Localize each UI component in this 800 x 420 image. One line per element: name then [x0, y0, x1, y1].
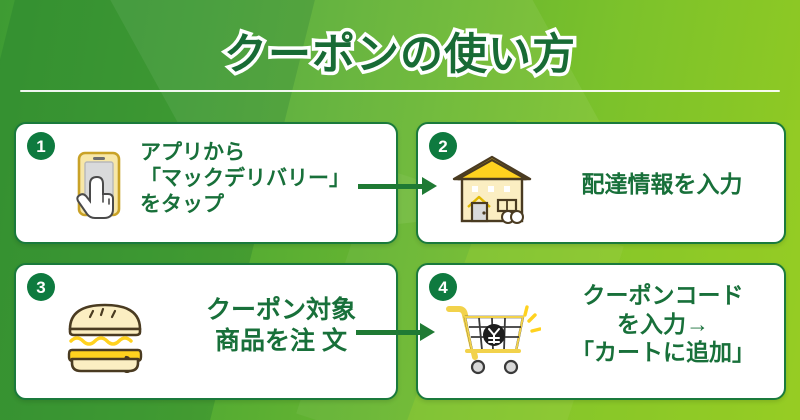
- arrow-head: [422, 177, 437, 195]
- arrow-shaft: [356, 330, 424, 335]
- hamburger-icon: [60, 291, 150, 379]
- step-card-3[interactable]: 3 クーポン対象 商品を注 文: [14, 263, 398, 400]
- arrow-step3-to-step4: [356, 321, 442, 343]
- step-card-1[interactable]: 1 アプリから 「マックデリバリー」 をタップ: [14, 122, 398, 244]
- step-card-2[interactable]: 2 配達情報を入力: [416, 122, 786, 244]
- steps-grid: 1 アプリから 「マックデリバリー」 をタップ 2: [0, 0, 800, 420]
- step-number-badge-3: 3: [27, 273, 55, 301]
- step-card-4[interactable]: 4 クーポンコード を入力→ 「カートに追加」: [416, 263, 786, 400]
- arrow-shaft: [358, 184, 426, 189]
- house-icon: [442, 146, 542, 232]
- arrow-step1-to-step2: [358, 175, 440, 197]
- shopping-cart-yen-icon: [440, 293, 544, 381]
- smartphone-tap-icon: [60, 146, 138, 232]
- step-label-2: 配達情報を入力: [546, 170, 778, 199]
- step-number-badge-1: 1: [27, 132, 55, 160]
- arrow-head: [420, 323, 435, 341]
- step-label-4: クーポンコード を入力→ 「カートに追加」: [544, 281, 782, 367]
